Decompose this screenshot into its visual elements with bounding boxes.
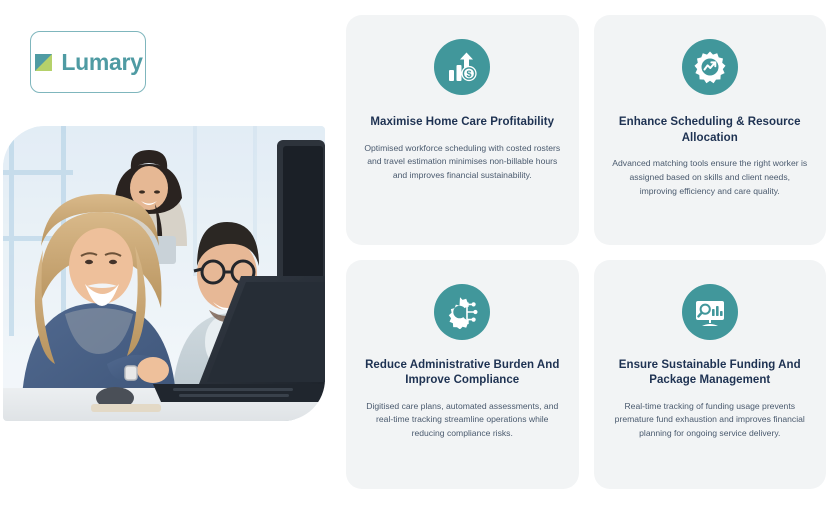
feature-card-funding[interactable]: Ensure Sustainable Funding And Package M…: [594, 260, 827, 490]
logo-wordmark: Lumary: [61, 51, 142, 74]
feature-card-profitability[interactable]: $ Maximise Home Care Profitability Optim…: [346, 15, 579, 245]
card-title: Reduce Administrative Burden And Improve…: [364, 358, 561, 389]
card-body: Real-time tracking of funding usage prev…: [612, 400, 809, 442]
bar-chart-arrow-dollar-icon: $: [434, 39, 490, 95]
card-body: Digitised care plans, automated assessme…: [364, 400, 561, 442]
monitor-magnifier-chart-icon: [682, 284, 738, 340]
svg-text:$: $: [467, 69, 472, 79]
card-body: Advanced matching tools ensure the right…: [612, 157, 809, 199]
gear-trend-line-icon: [682, 39, 738, 95]
feature-card-admin-burden[interactable]: Reduce Administrative Burden And Improve…: [346, 260, 579, 490]
card-body: Optimised workforce scheduling with cost…: [364, 142, 561, 184]
team-collaboration-photo: [3, 126, 325, 421]
lumary-logo[interactable]: Lumary: [30, 31, 146, 93]
gear-automation-nodes-icon: [434, 284, 490, 340]
diagonal-split-square-icon: [33, 52, 54, 73]
card-title: Ensure Sustainable Funding And Package M…: [612, 358, 809, 389]
feature-cards-grid: $ Maximise Home Care Profitability Optim…: [346, 15, 826, 489]
card-title: Maximise Home Care Profitability: [370, 115, 554, 131]
card-title: Enhance Scheduling & Resource Allocation: [612, 115, 809, 146]
slide-root: Lumary: [0, 0, 840, 508]
left-column: Lumary: [0, 0, 336, 508]
photo-illustration: [3, 126, 325, 421]
feature-card-scheduling[interactable]: Enhance Scheduling & Resource Allocation…: [594, 15, 827, 245]
